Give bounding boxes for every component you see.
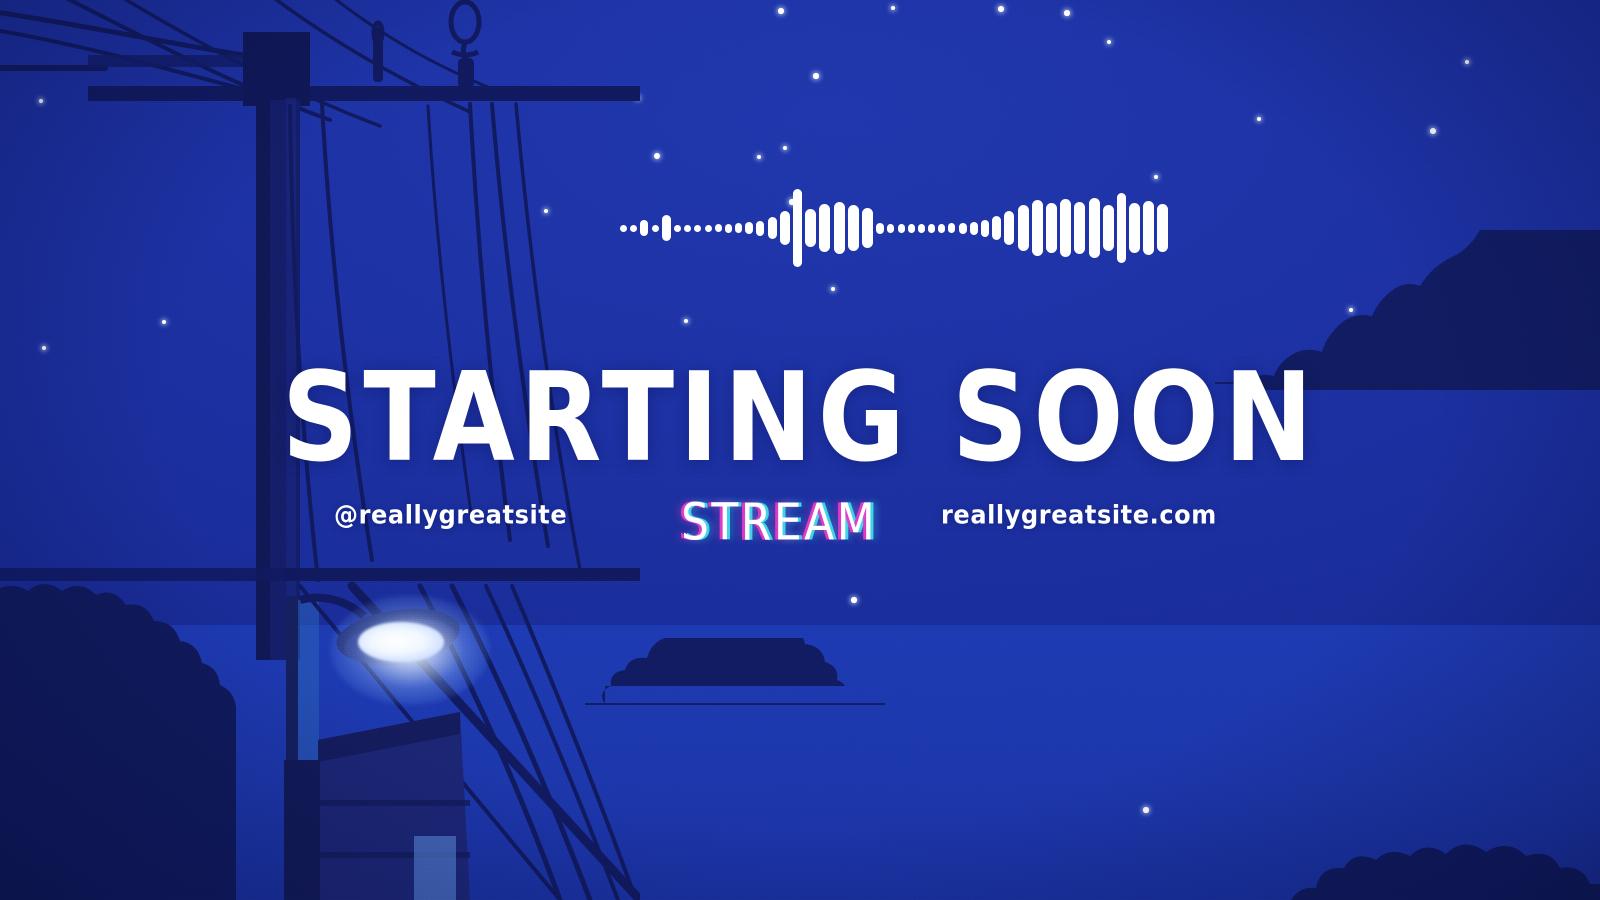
star (1465, 60, 1469, 64)
page-title: STARTING SOON (0, 356, 1600, 460)
waveform-bar (981, 220, 989, 237)
waveform-bar (620, 225, 627, 232)
waveform-bar (1018, 205, 1029, 251)
star (813, 73, 818, 78)
waveform-bar (662, 215, 671, 241)
social-handle[interactable]: @reallygreatsite (334, 500, 567, 530)
stream-overlay-canvas: STARTING SOON @reallygreatsite STREAM re… (0, 0, 1600, 900)
waveform-bar (928, 224, 935, 233)
waveform-bar (780, 211, 790, 245)
waveform-bar (1117, 193, 1126, 263)
waveform-bar (684, 225, 691, 232)
waveform-bar (1046, 203, 1057, 253)
waveform-bar (938, 224, 945, 233)
waveform-bar (908, 224, 915, 233)
footer-row: @reallygreatsite STREAM reallygreatsite.… (0, 497, 1600, 541)
waveform-bar (1103, 205, 1114, 251)
waveform-bar (735, 223, 742, 233)
waveform-bar (725, 224, 732, 233)
waveform-bar (756, 221, 764, 236)
waveform-bar (745, 222, 753, 234)
waveform-bar (793, 189, 802, 267)
waveform-bar (1143, 201, 1154, 255)
waveform-bar (705, 225, 712, 232)
star (778, 8, 783, 13)
waveform-bar (834, 202, 845, 254)
star (851, 597, 856, 602)
star (654, 153, 660, 159)
star (1430, 128, 1436, 134)
waveform-bar (992, 216, 1001, 240)
waveform-bar (674, 225, 681, 232)
audio-waveform-graphic (620, 186, 960, 270)
website-url[interactable]: reallygreatsite.com (941, 500, 1217, 530)
waveform-bar (918, 224, 925, 233)
bottom-right-foliage-silhouette (1290, 800, 1600, 900)
waveform-bar (1074, 202, 1085, 254)
waveform-bar (1060, 199, 1071, 257)
waveform-bar (862, 208, 873, 248)
waveform-bar (640, 220, 648, 236)
waveform-bar (970, 222, 978, 235)
star (1257, 117, 1261, 121)
waveform-bar (768, 217, 777, 239)
waveform-bar (819, 204, 830, 252)
waveform-bar (848, 205, 859, 251)
waveform-bar (715, 224, 722, 232)
waveform-bar (876, 223, 884, 234)
waveform-bar (898, 224, 905, 233)
star (783, 146, 787, 150)
waveform-bar (887, 224, 894, 233)
waveform-bar (694, 225, 701, 232)
waveform-bar (959, 223, 967, 234)
waveform-bar (1004, 211, 1014, 245)
waveform-bar (630, 225, 637, 232)
waveform-bar (1157, 204, 1168, 252)
waveform-bar (805, 209, 816, 247)
waveform-bar (1089, 198, 1100, 258)
waveform-bar (1129, 203, 1140, 253)
starting-soon-heading: STARTING SOON (282, 356, 1318, 479)
star (1064, 10, 1069, 15)
waveform-bar (948, 223, 955, 233)
stream-brand-wordmark: STREAM (681, 493, 877, 552)
star (1143, 807, 1148, 812)
waveform-bar (1032, 200, 1043, 256)
star (998, 6, 1004, 12)
streetlamp-bulb (358, 622, 444, 662)
waveform-bar (652, 225, 659, 232)
